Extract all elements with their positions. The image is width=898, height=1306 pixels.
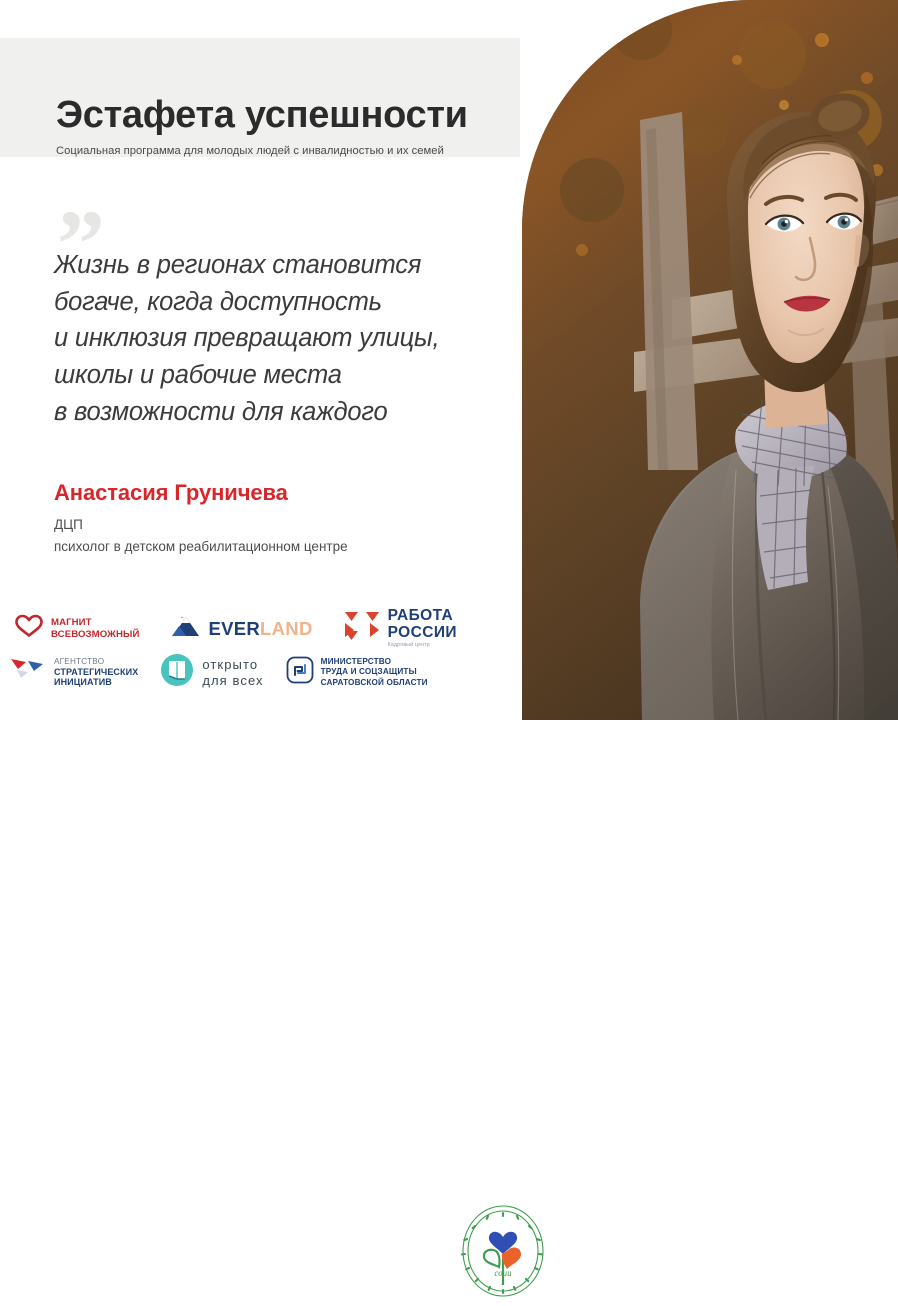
quote-line: Жизнь в регионах становится [54, 247, 494, 284]
logo-magnit-text: МАГНИТ ВСЕВОЗМОЖНЫЙ [51, 617, 139, 639]
clover-hearts-emblem-icon: соии [457, 1201, 549, 1301]
logo-rabota-line1: РАБОТА [388, 608, 457, 625]
pull-quote: Жизнь в регионах становится богаче, когд… [54, 247, 494, 431]
person-name: Анастасия Груничева [54, 480, 484, 506]
logo-rabota-text: РАБОТА РОССИИ Кадровый центр [388, 608, 457, 649]
tricolor-arrow-icon [8, 656, 48, 689]
logo-rabota-line2: РОССИИ [388, 625, 457, 642]
logo-otkryto-text: открыто для всех [202, 657, 263, 689]
person-condition: ДЦП [54, 515, 484, 535]
logo-otkryto-line1: открыто [202, 657, 263, 673]
quote-line: богаче, когда доступность [54, 284, 494, 321]
logo-asi-line2: СТРАТЕГИЧЕСКИХ [54, 667, 138, 678]
logo-everland[interactable]: EVERLAND [169, 614, 312, 643]
logo-everland-part2: LAND [260, 618, 313, 639]
logo-ministry-line2: ТРУДА И СОЦЗАЩИТЫ [321, 667, 428, 677]
partner-logos: МАГНИТ ВСЕВОЗМОЖНЫЙ EVERLAND [0, 598, 520, 713]
logo-ministry-line3: САРАТОВСКОЙ ОБЛАСТИ [321, 678, 428, 688]
logo-magnit[interactable]: МАГНИТ ВСЕВОЗМОЖНЫЙ [14, 614, 139, 643]
attribution: Анастасия Груничева ДЦП психолог в детск… [54, 480, 484, 558]
quote-line: и инклюзия превращают улицы, [54, 320, 494, 357]
logo-ministry-line1: МИНИСТЕРСТВО [321, 657, 428, 667]
heart-icon [14, 614, 44, 643]
logo-asi[interactable]: АГЕНТСТВО СТРАТЕГИЧЕСКИХ ИНИЦИАТИВ [8, 656, 138, 689]
logo-otkryto-line2: для всех [202, 673, 263, 689]
logo-asi-text: АГЕНТСТВО СТРАТЕГИЧЕСКИХ ИНИЦИАТИВ [54, 657, 138, 688]
quote-line: школы и рабочие места [54, 357, 494, 394]
person-role: психолог в детском реабилитационном цент… [54, 537, 484, 557]
triangles-icon [343, 610, 381, 647]
mountain-icon [169, 614, 203, 643]
logo-otkryto-dlya-vseh[interactable]: открыто для всех [160, 653, 263, 692]
header-content: Эстафета успешности Социальная программа… [56, 96, 526, 157]
logo-asi-line3: ИНИЦИАТИВ [54, 677, 138, 688]
logo-ministry-saratov[interactable]: МИНИСТЕРСТВО ТРУДА И СОЦЗАЩИТЫ САРАТОВСК… [286, 656, 428, 689]
logo-magnit-line2: ВСЕВОЗМОЖНЫЙ [51, 629, 139, 640]
logo-rabota-rossii[interactable]: РАБОТА РОССИИ Кадровый центр [343, 608, 457, 649]
logo-magnit-line1: МАГНИТ [51, 617, 139, 628]
promo-card: Эстафета успешности Социальная программа… [0, 0, 898, 720]
logo-asi-line1: АГЕНТСТВО [54, 657, 138, 667]
page-title: Эстафета успешности [56, 96, 526, 136]
open-book-circle-icon [160, 653, 194, 692]
logo-everland-text: EVERLAND [208, 618, 312, 640]
header-band: Эстафета успешности Социальная программа… [0, 38, 520, 157]
svg-text:соии: соии [494, 1268, 512, 1278]
logo-row-bottom: АГЕНТСТВО СТРАТЕГИЧЕСКИХ ИНИЦИАТИВ откры… [8, 653, 428, 692]
logo-rabota-sublabel: Кадровый центр [388, 643, 457, 649]
logo-row-top: МАГНИТ ВСЕВОЗМОЖНЫЙ EVERLAND [14, 608, 457, 649]
logo-everland-part1: EVER [208, 618, 260, 639]
page-subtitle: Социальная программа для молодых людей с… [56, 145, 526, 157]
portrait-photo [522, 0, 898, 720]
logo-ministry-text: МИНИСТЕРСТВО ТРУДА И СОЦЗАЩИТЫ САРАТОВСК… [321, 657, 428, 688]
logo-clover-emblem[interactable]: соии [457, 1201, 549, 1301]
ministry-emblem-icon [286, 656, 314, 689]
quote-line: в возможности для каждого [54, 394, 494, 431]
